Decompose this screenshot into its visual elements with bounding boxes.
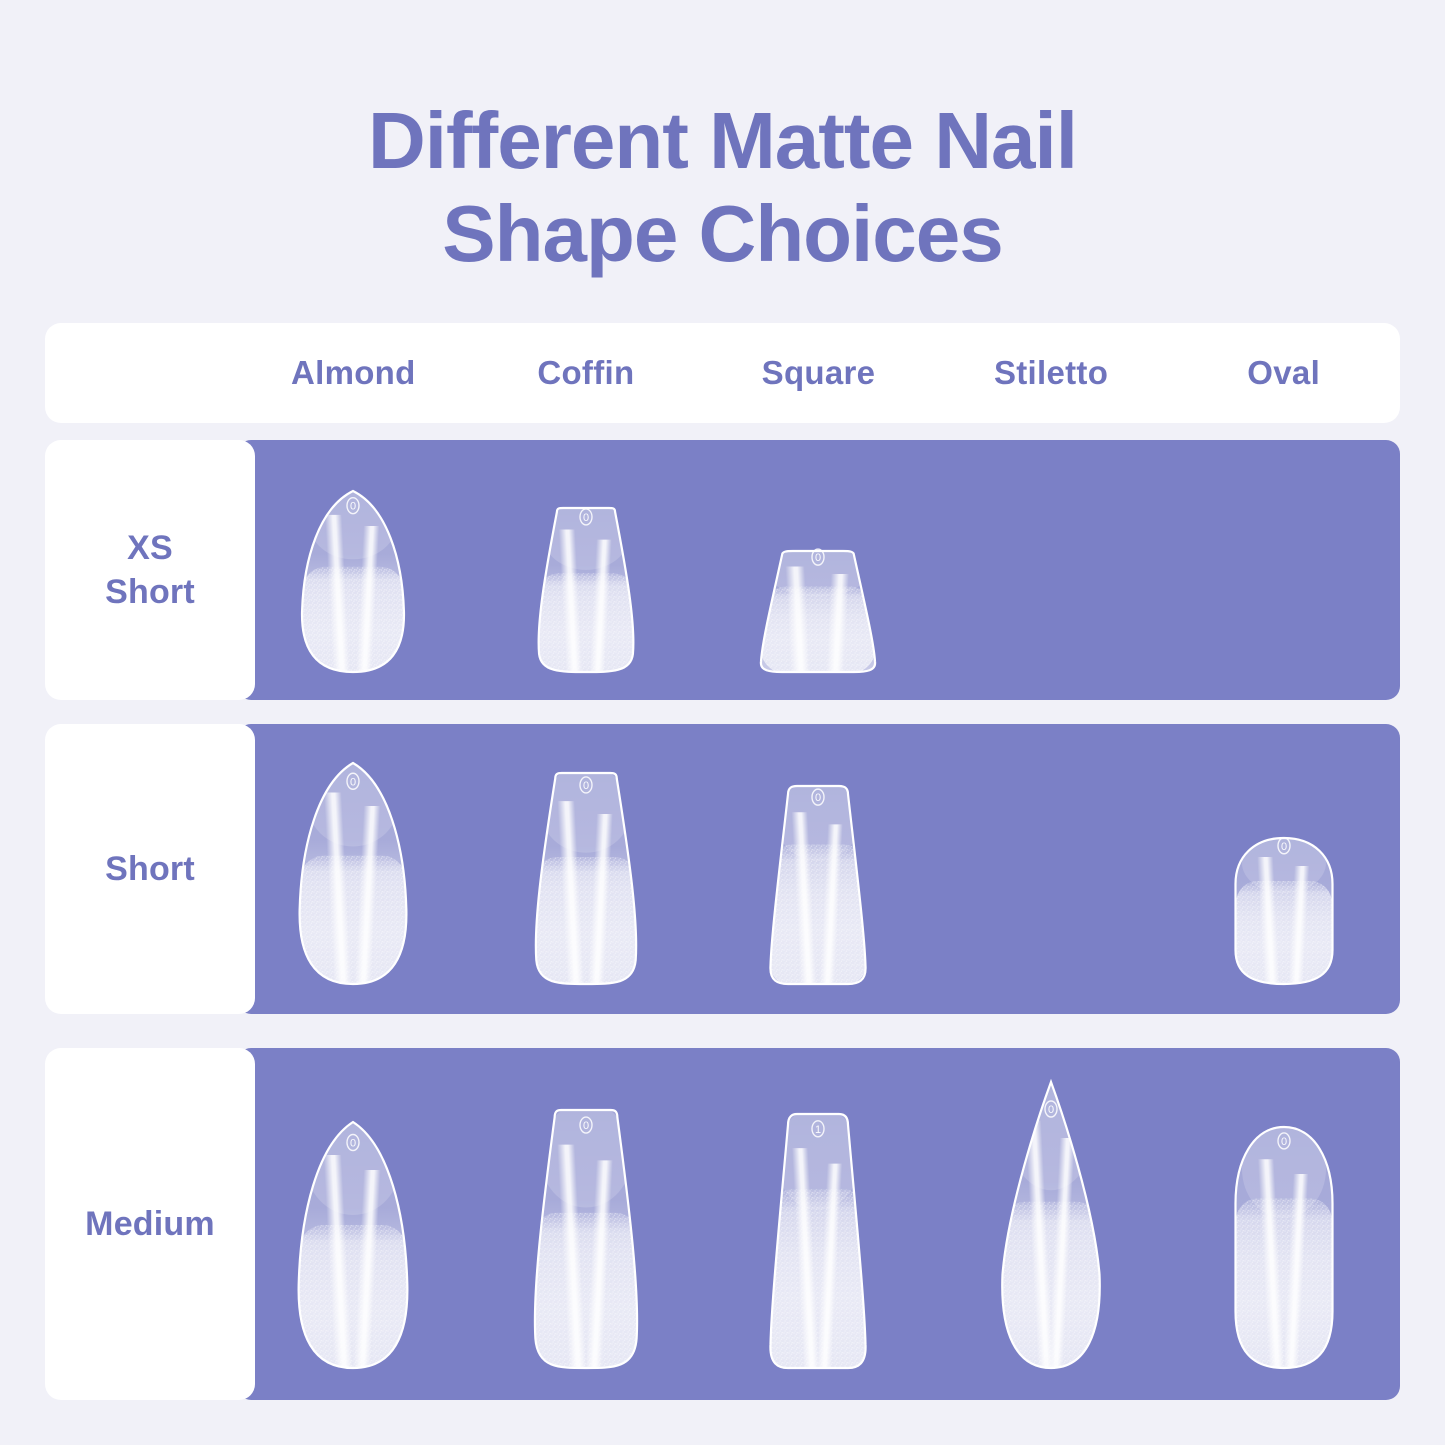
nail-cell-medium-square: 1 <box>702 1048 935 1400</box>
row-cells: 00100 <box>237 1048 1400 1400</box>
page-title-line-2: Shape Choices <box>0 188 1445 281</box>
nail-cell-xs-short-square: 0 <box>702 440 935 700</box>
row-label-line-1: Short <box>105 850 195 888</box>
nail-medium-square: 1 <box>768 1112 868 1370</box>
nail-xs-short-almond: 0 <box>301 489 406 674</box>
nail-xs-short-square: 0 <box>758 549 878 674</box>
size-marking-text: 0 <box>1281 841 1287 853</box>
nail-cell-xs-short-coffin: 0 <box>470 440 703 700</box>
nail-silhouette-almond: 0 <box>301 489 406 674</box>
nail-silhouette-coffin: 0 <box>531 1108 641 1370</box>
nail-short-almond: 0 <box>298 761 408 986</box>
row-label-card-xs-short: XS Short <box>45 440 255 700</box>
column-header-oval: Oval <box>1167 354 1400 392</box>
row-label-card-short: Short <box>45 724 255 1014</box>
nail-short-square: 0 <box>768 784 868 986</box>
column-header-square: Square <box>702 354 935 392</box>
size-marking-text: 0 <box>350 501 356 513</box>
nail-silhouette-square: 1 <box>768 1112 868 1370</box>
nail-silhouette-almond: 0 <box>298 761 408 986</box>
nail-medium-almond: 0 <box>297 1120 409 1370</box>
nail-cell-short-coffin: 0 <box>470 724 703 1014</box>
nail-silhouette-almond: 0 <box>297 1120 409 1370</box>
nail-cell-medium-oval: 0 <box>1167 1048 1400 1400</box>
size-marking-text: 0 <box>583 512 589 524</box>
nail-medium-stiletto: 0 <box>1001 1080 1101 1370</box>
size-marking-text: 0 <box>1048 1104 1054 1116</box>
column-header-stiletto: Stiletto <box>935 354 1168 392</box>
page-title-line-1: Different Matte Nail <box>0 95 1445 188</box>
row-cells: 0000 <box>237 724 1400 1014</box>
nail-cell-medium-almond: 0 <box>237 1048 470 1400</box>
nail-silhouette-oval: 0 <box>1234 1125 1334 1370</box>
column-header-list: AlmondCoffinSquareStilettoOval <box>237 354 1400 392</box>
nail-shape-chart: Different Matte Nail Shape Choices Almon… <box>0 0 1445 1445</box>
nail-short-coffin: 0 <box>532 771 640 986</box>
nail-medium-coffin: 0 <box>531 1108 641 1370</box>
row-label-line-1: XS <box>127 529 173 567</box>
nail-xs-short-coffin: 0 <box>535 506 637 674</box>
nail-cell-short-almond: 0 <box>237 724 470 1014</box>
nail-silhouette-oval: 0 <box>1234 836 1334 986</box>
nail-short-oval: 0 <box>1234 836 1334 986</box>
row-label-xs-short: XS Short <box>105 526 195 614</box>
nail-silhouette-coffin: 0 <box>535 506 637 674</box>
nail-cell-xs-short-stiletto <box>935 440 1168 700</box>
column-header-coffin: Coffin <box>470 354 703 392</box>
row-cells: 000 <box>237 440 1400 700</box>
size-marking-text: 0 <box>815 552 821 564</box>
size-marking-text: 0 <box>583 1120 589 1132</box>
row-label-card-medium: Medium <box>45 1048 255 1400</box>
column-header-almond: Almond <box>237 354 470 392</box>
nail-silhouette-coffin: 0 <box>532 771 640 986</box>
nail-cell-xs-short-oval <box>1167 440 1400 700</box>
column-header-panel: AlmondCoffinSquareStilettoOval <box>45 323 1400 423</box>
nail-cell-medium-stiletto: 0 <box>935 1048 1168 1400</box>
page-title: Different Matte Nail Shape Choices <box>0 95 1445 281</box>
nail-cell-xs-short-almond: 0 <box>237 440 470 700</box>
size-marking-text: 0 <box>1281 1136 1287 1148</box>
nail-cell-short-oval: 0 <box>1167 724 1400 1014</box>
size-marking-text: 0 <box>350 1138 356 1150</box>
row-label-medium: Medium <box>85 1202 215 1246</box>
size-row-short: 0000 Short <box>45 724 1400 1014</box>
size-marking-text: 0 <box>583 780 589 792</box>
row-label-short: Short <box>105 847 195 891</box>
nail-silhouette-stiletto: 0 <box>1001 1080 1101 1370</box>
nail-cell-medium-coffin: 0 <box>470 1048 703 1400</box>
nail-cell-short-stiletto <box>935 724 1168 1014</box>
size-marking-text: 0 <box>815 792 821 804</box>
row-label-line-1: Medium <box>85 1205 215 1243</box>
size-row-medium: 00100 Medium <box>45 1048 1400 1400</box>
size-marking-text: 1 <box>815 1124 821 1136</box>
nail-medium-oval: 0 <box>1234 1125 1334 1370</box>
size-row-xs-short: 000 XS Short <box>45 440 1400 700</box>
nail-cell-short-square: 0 <box>702 724 935 1014</box>
size-marking-text: 0 <box>350 776 356 788</box>
nail-silhouette-square: 0 <box>758 549 878 674</box>
nail-silhouette-square: 0 <box>768 784 868 986</box>
row-label-line-2: Short <box>105 573 195 611</box>
